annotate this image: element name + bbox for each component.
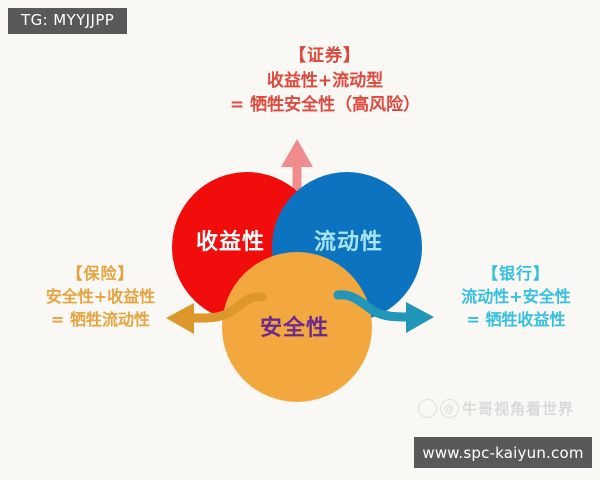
circle-safety: 安全性 bbox=[222, 252, 372, 402]
at-icon: @ bbox=[440, 399, 459, 418]
baidu-logo-icon bbox=[418, 399, 437, 418]
site-url-banner: www.spc-kaiyun.com bbox=[414, 437, 592, 468]
diagram-canvas: TG: MYYJJPP 【证券】 收益性+流动型 = 牺牲安全性（高风险） 【保… bbox=[0, 0, 600, 480]
circle-safety-label: 安全性 bbox=[260, 310, 329, 342]
circle-liquidity-label: 流动性 bbox=[314, 224, 383, 256]
watermark-text: 牛哥视角看世界 bbox=[462, 398, 574, 419]
circle-profitability-label: 收益性 bbox=[196, 224, 265, 256]
watermark: @ 牛哥视角看世界 bbox=[418, 398, 574, 419]
